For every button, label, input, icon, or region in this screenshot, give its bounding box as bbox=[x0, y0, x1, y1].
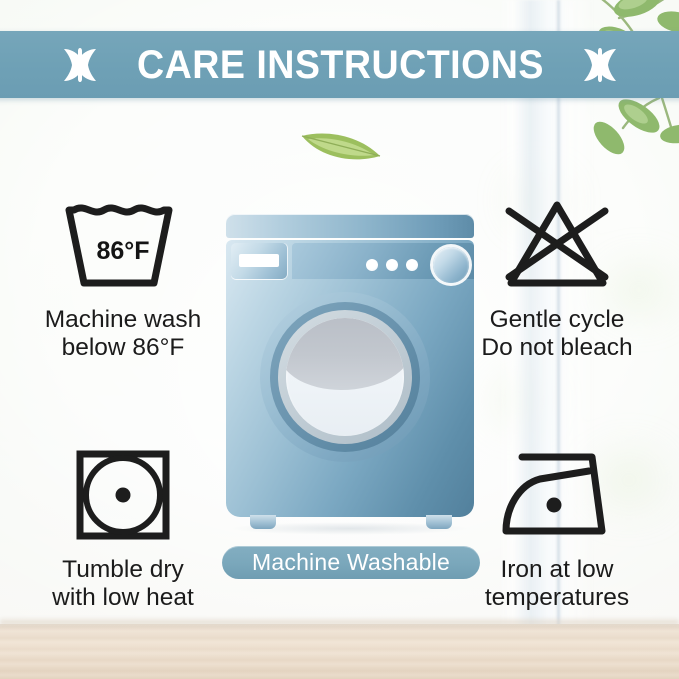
care-symbol-iron-low: Iron at low temperatures bbox=[452, 443, 662, 613]
wash-tub-icon: 86°F bbox=[65, 193, 181, 297]
machine-door-glass-shading bbox=[286, 318, 404, 390]
machine-foot bbox=[250, 515, 276, 529]
machine-foot bbox=[426, 515, 452, 529]
washing-machine-illustration bbox=[222, 210, 478, 535]
care-symbol-label: Tumble dry with low heat bbox=[52, 556, 194, 613]
floating-leaf-icon bbox=[298, 122, 384, 168]
care-symbol-tumble-dry: Tumble dry with low heat bbox=[18, 443, 228, 613]
fleur-de-lis-icon bbox=[58, 43, 102, 87]
machine-detergent-drawer bbox=[231, 243, 287, 279]
wash-temperature-value: 86°F bbox=[65, 237, 181, 266]
page-title: CARE INSTRUCTIONS bbox=[137, 45, 544, 85]
fleur-de-lis-icon bbox=[578, 43, 622, 87]
tumble-dry-low-icon bbox=[71, 443, 175, 547]
care-symbol-label: Iron at low temperatures bbox=[485, 556, 629, 613]
machine-indicator-dot bbox=[386, 259, 398, 271]
badge-label: Machine Washable bbox=[252, 551, 450, 574]
care-instructions-graphic: CARE INSTRUCTIONS 86°F Machine wash belo… bbox=[0, 0, 679, 679]
background-table-grain bbox=[0, 624, 679, 679]
care-symbol-label: Machine wash below 86°F bbox=[45, 306, 202, 363]
machine-lid bbox=[226, 214, 474, 238]
header-banner: CARE INSTRUCTIONS bbox=[0, 31, 679, 98]
care-symbol-machine-wash: 86°F Machine wash below 86°F bbox=[18, 193, 228, 363]
machine-program-knob bbox=[433, 247, 469, 283]
tumble-dry-glyph bbox=[71, 446, 175, 544]
machine-door-glass bbox=[286, 318, 404, 436]
care-symbol-label: Gentle cycle Do not bleach bbox=[481, 306, 632, 363]
care-symbol-do-not-bleach: Gentle cycle Do not bleach bbox=[452, 193, 662, 363]
do-not-bleach-triangle-icon bbox=[499, 193, 615, 297]
machine-indicator-dot bbox=[366, 259, 378, 271]
machine-washable-badge: Machine Washable bbox=[222, 546, 480, 579]
background-table-edge bbox=[0, 618, 679, 627]
do-not-bleach-glyph bbox=[499, 197, 615, 293]
machine-drawer-slot bbox=[239, 254, 279, 267]
iron-glyph bbox=[496, 449, 618, 541]
iron-low-heat-icon bbox=[496, 443, 618, 547]
machine-indicator-dot bbox=[406, 259, 418, 271]
